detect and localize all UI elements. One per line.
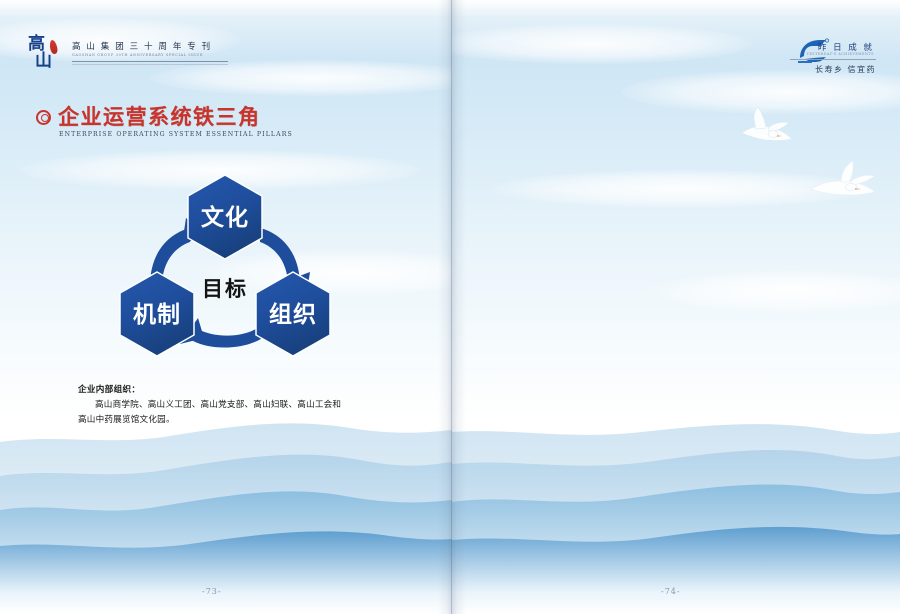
hex-label-mechanism: 机制 [133, 302, 181, 328]
right-page: 昨 日 成 就 YESTERDAY'S ACHIEVEMENTS 长寿乡 信宜药 [452, 0, 900, 614]
dove-upper-icon [732, 105, 796, 149]
left-header-title: 高 山 集 团 三 十 周 年 专 刊 [72, 40, 212, 52]
right-header-subtitle: YESTERDAY'S ACHIEVEMENTS [807, 52, 874, 56]
cloud-wisp [452, 24, 752, 64]
page-number-left: -73- [202, 587, 222, 596]
body-heading: 企业内部组织： [78, 383, 344, 398]
header-rule [790, 59, 876, 60]
hex-label-culture: 文化 [201, 204, 249, 231]
header-slogan: 长寿乡 信宜药 [815, 64, 876, 75]
cloud-wisp [492, 170, 872, 208]
left-page-header: 高 山 高 山 集 团 三 十 周 年 专 刊 GAOSHAN GROUP 30… [28, 38, 228, 72]
page-title-english: ENTERPRISE OPERATING SYSTEM ESSENTIAL PI… [59, 131, 293, 138]
right-page-header: 昨 日 成 就 YESTERDAY'S ACHIEVEMENTS 长寿乡 信宜药 [758, 38, 878, 78]
circle-outline-icon [36, 110, 51, 125]
triangle-center-label: 目标 [202, 277, 248, 301]
section-title: 企业运营系统铁三角 ENTERPRISE OPERATING SYSTEM ES… [36, 106, 293, 138]
page-title: 企业运营系统铁三角 [58, 106, 261, 128]
section-title-row: 企业运营系统铁三角 [36, 106, 293, 128]
iron-triangle-diagram: 文化 机制 组织 目标 [110, 168, 340, 373]
gaoshan-logo-icon: 高 山 [28, 38, 68, 72]
mountain-background [452, 384, 900, 614]
left-page: 高 山 高 山 集 团 三 十 周 年 专 刊 GAOSHAN GROUP 30… [0, 0, 452, 614]
magazine-spread: 高 山 高 山 集 团 三 十 周 年 专 刊 GAOSHAN GROUP 30… [0, 0, 900, 614]
logo-char-shan: 山 [35, 53, 52, 70]
dove-lower-icon [805, 155, 879, 203]
left-header-subtitle: GAOSHAN GROUP 30TH ANNIVERSARY SPECIAL I… [72, 53, 203, 57]
body-paragraph: 高山商学院、高山义工团、高山党支部、高山妇联、高山工会和高山中药展览馆文化园。 [78, 398, 344, 428]
hex-label-organization: 组织 [269, 301, 317, 328]
header-rule [72, 64, 228, 65]
header-rule [72, 61, 228, 62]
left-body-text: 企业内部组织： 高山商学院、高山义工团、高山党支部、高山妇联、高山工会和高山中药… [78, 383, 344, 428]
page-number-right: -74- [661, 587, 681, 596]
cloud-wisp [652, 270, 900, 312]
